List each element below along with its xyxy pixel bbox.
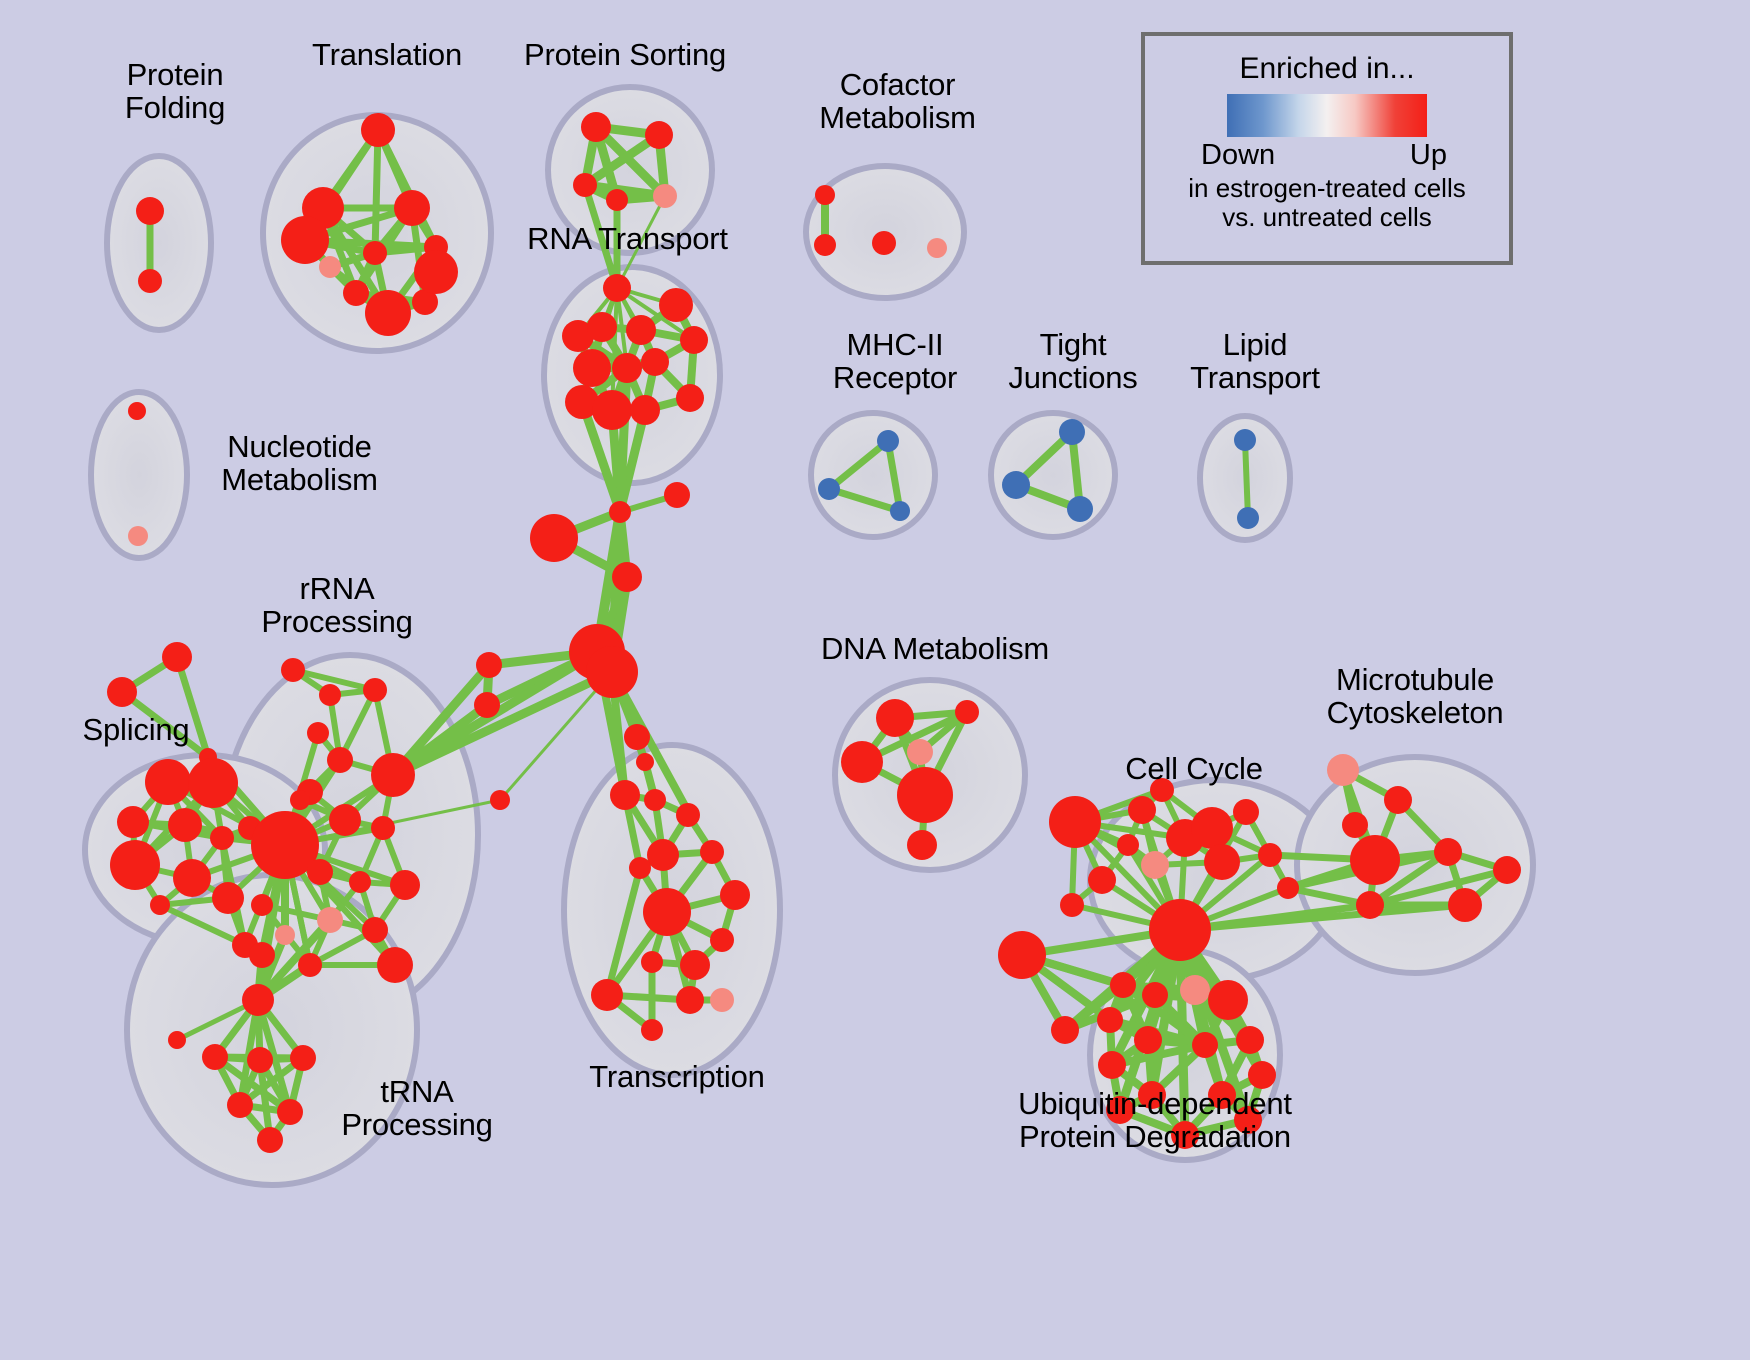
gene-set-node — [1117, 834, 1139, 856]
gene-set-node — [371, 753, 415, 797]
gene-set-node — [317, 907, 343, 933]
gene-set-node — [647, 839, 679, 871]
cluster-label-protein-folding: Protein Folding — [80, 58, 270, 125]
legend-up-label: Up — [1410, 139, 1447, 172]
gene-set-node — [362, 917, 388, 943]
gene-set-node — [275, 925, 295, 945]
gene-set-node — [1149, 899, 1211, 961]
gene-set-node — [1059, 419, 1085, 445]
gene-set-node — [128, 526, 148, 546]
gene-set-node — [676, 986, 704, 1014]
gene-set-node — [138, 269, 162, 293]
gene-set-node — [1208, 980, 1248, 1020]
gene-set-node — [1128, 796, 1156, 824]
gene-set-node — [1237, 507, 1259, 529]
gene-set-node — [641, 348, 669, 376]
gene-set-node — [110, 840, 160, 890]
gene-set-node — [1356, 891, 1384, 919]
gene-set-node — [251, 894, 273, 916]
gene-set-node — [1327, 754, 1359, 786]
gene-set-node — [1448, 888, 1482, 922]
gene-set-node — [107, 677, 137, 707]
gene-set-node — [1434, 838, 1462, 866]
gene-set-node — [955, 700, 979, 724]
gene-set-node — [897, 767, 953, 823]
gene-set-node — [319, 684, 341, 706]
gene-set-node — [629, 857, 651, 879]
gene-set-node — [1350, 835, 1400, 885]
cluster-label-translation: Translation — [282, 38, 492, 71]
gene-set-node — [1258, 843, 1282, 867]
gene-set-node — [720, 880, 750, 910]
gene-set-node — [1134, 1026, 1162, 1054]
gene-set-node — [1248, 1061, 1276, 1089]
gene-set-node — [307, 859, 333, 885]
gene-set-node — [1110, 972, 1136, 998]
gene-set-node — [645, 121, 673, 149]
gene-set-node — [349, 871, 371, 893]
gene-set-node — [609, 501, 631, 523]
cluster-label-transcription: Transcription — [567, 1060, 787, 1093]
gene-set-node — [624, 724, 650, 750]
gene-set-node — [872, 231, 896, 255]
gene-set-node — [212, 882, 244, 914]
gene-set-node — [573, 349, 611, 387]
gene-set-node — [377, 947, 413, 983]
gene-set-node — [281, 216, 329, 264]
legend-color-gradient-bar — [1227, 94, 1427, 137]
gene-set-node — [202, 1044, 228, 1070]
gene-set-node — [1236, 1026, 1264, 1054]
gene-set-node — [173, 859, 211, 897]
gene-set-node — [664, 482, 690, 508]
gene-set-node — [907, 739, 933, 765]
gene-set-node — [659, 288, 693, 322]
gene-set-node — [927, 238, 947, 258]
gene-set-node — [242, 984, 274, 1016]
gene-set-node — [319, 256, 341, 278]
gene-set-node — [128, 402, 146, 420]
gene-set-node — [361, 113, 395, 147]
gene-set-node — [626, 315, 656, 345]
gene-set-node — [643, 888, 691, 936]
cluster-label-dna-metabolism: DNA Metabolism — [810, 632, 1060, 665]
gene-set-node — [680, 950, 710, 980]
legend-title: Enriched in... — [1145, 52, 1509, 86]
gene-set-node — [998, 931, 1046, 979]
gene-set-node — [612, 562, 642, 592]
gene-set-node — [227, 1092, 253, 1118]
cluster-label-rrna-processing: rRNA Processing — [242, 572, 432, 639]
gene-set-node — [327, 747, 353, 773]
cluster-label-tight-junctions: Tight Junctions — [978, 328, 1168, 395]
gene-set-node — [490, 790, 510, 810]
gene-set-node — [700, 840, 724, 864]
cluster-label-protein-sorting: Protein Sorting — [500, 38, 750, 71]
gene-set-node — [188, 758, 238, 808]
gene-set-node — [581, 112, 611, 142]
gene-set-node — [1234, 429, 1256, 451]
cluster-label-ubiquitin-degradation: Ubiquitin-dependent Protein Degradation — [990, 1087, 1320, 1154]
gene-set-node — [591, 979, 623, 1011]
gene-set-node — [117, 806, 149, 838]
gene-set-node — [1060, 893, 1084, 917]
gene-set-node — [641, 1019, 663, 1041]
cluster-label-lipid-transport: Lipid Transport — [1160, 328, 1350, 395]
gene-set-node — [1002, 471, 1030, 499]
gene-set-node — [168, 808, 202, 842]
legend-subtitle: in estrogen-treated cells vs. untreated … — [1145, 174, 1509, 232]
gene-set-node — [307, 722, 329, 744]
gene-set-node — [636, 753, 654, 771]
cluster-label-cofactor-metabolism: Cofactor Metabolism — [790, 68, 1005, 135]
gene-set-node — [162, 642, 192, 672]
gene-set-node — [1067, 496, 1093, 522]
gene-set-node — [841, 741, 883, 783]
gene-set-node — [586, 646, 638, 698]
gene-set-node — [1097, 1007, 1123, 1033]
hull-mhc-ii-receptor — [811, 413, 935, 537]
gene-set-node — [1204, 844, 1240, 880]
cluster-label-trna-processing: tRNA Processing — [322, 1075, 512, 1142]
cluster-label-splicing: Splicing — [56, 713, 216, 746]
gene-set-node — [1088, 866, 1116, 894]
cluster-label-microtubule-cytoskeleton: Microtubule Cytoskeleton — [1300, 663, 1530, 730]
gene-set-node — [612, 353, 642, 383]
gene-set-node — [814, 234, 836, 256]
gene-set-node — [1141, 851, 1169, 879]
gene-set-node — [145, 759, 191, 805]
gene-set-node — [476, 652, 502, 678]
cluster-label-mhc-ii-receptor: MHC-II Receptor — [800, 328, 990, 395]
gene-set-node — [1233, 799, 1259, 825]
gene-set-node — [641, 951, 663, 973]
gene-set-node — [1493, 856, 1521, 884]
gene-set-node — [890, 501, 910, 521]
gene-set-node — [1051, 1016, 1079, 1044]
gene-set-node — [1049, 796, 1101, 848]
gene-set-node — [815, 185, 835, 205]
gene-set-node — [281, 658, 305, 682]
gene-set-node — [150, 895, 170, 915]
gene-set-node — [592, 390, 632, 430]
gene-set-node — [676, 803, 700, 827]
gene-set-node — [877, 430, 899, 452]
gene-set-node — [818, 478, 840, 500]
cluster-label-cell-cycle: Cell Cycle — [1104, 752, 1284, 785]
gene-set-node — [1192, 1032, 1218, 1058]
gene-set-node — [606, 189, 628, 211]
enrichment-legend: Enriched in... Down Up in estrogen-treat… — [1141, 32, 1513, 265]
gene-set-node — [1098, 1051, 1126, 1079]
gene-set-node — [1384, 786, 1412, 814]
gene-set-node — [290, 1045, 316, 1071]
gene-set-node — [371, 816, 395, 840]
gene-set-node — [876, 699, 914, 737]
gene-set-node — [1342, 812, 1368, 838]
gene-set-node — [168, 1031, 186, 1049]
gene-set-node — [474, 692, 500, 718]
gene-set-node — [298, 953, 322, 977]
gene-set-node — [603, 274, 631, 302]
gene-set-node — [414, 250, 458, 294]
gene-set-node — [610, 780, 640, 810]
gene-set-node — [247, 1047, 273, 1073]
gene-set-node — [907, 830, 937, 860]
gene-set-node — [249, 942, 275, 968]
gene-set-node — [257, 1127, 283, 1153]
gene-set-node — [390, 870, 420, 900]
gene-set-node — [710, 988, 734, 1012]
gene-set-node — [365, 290, 411, 336]
gene-set-node — [587, 312, 617, 342]
gene-set-node — [277, 1099, 303, 1125]
gene-set-node — [363, 678, 387, 702]
gene-set-node — [630, 395, 660, 425]
legend-down-label: Down — [1201, 139, 1275, 172]
enrichment-map-figure: Protein Folding Translation Protein Sort… — [0, 0, 1750, 1360]
gene-set-node — [394, 190, 430, 226]
gene-set-node — [1191, 807, 1233, 849]
gene-set-node — [680, 326, 708, 354]
gene-set-node — [530, 514, 578, 562]
gene-set-node — [1277, 877, 1299, 899]
gene-set-node — [1180, 975, 1210, 1005]
gene-set-node — [676, 384, 704, 412]
cluster-label-nucleotide-metabolism: Nucleotide Metabolism — [192, 430, 407, 497]
gene-set-node — [653, 184, 677, 208]
gene-set-node — [710, 928, 734, 952]
gene-set-node — [363, 241, 387, 265]
gene-set-node — [210, 826, 234, 850]
hull-protein-folding — [107, 156, 211, 330]
gene-set-node — [343, 280, 369, 306]
gene-set-node — [573, 173, 597, 197]
gene-set-node — [1142, 982, 1168, 1008]
gene-set-node — [136, 197, 164, 225]
legend-end-labels: Down Up — [1201, 139, 1453, 173]
gene-set-node — [290, 790, 310, 810]
cluster-label-rna-transport: RNA Transport — [505, 222, 750, 255]
gene-set-node — [644, 789, 666, 811]
gene-set-node — [329, 804, 361, 836]
